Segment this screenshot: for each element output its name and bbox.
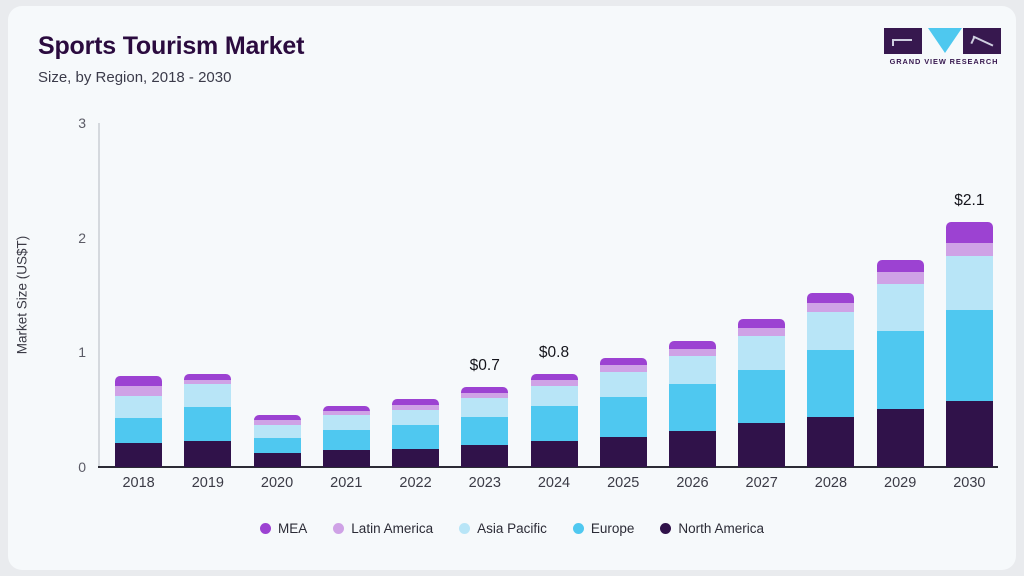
legend-color-swatch-icon bbox=[660, 523, 671, 534]
bar-segment-asia-pacific[interactable] bbox=[807, 312, 854, 350]
bar-stack[interactable] bbox=[600, 358, 647, 467]
x-axis-tick-label: 2026 bbox=[676, 475, 708, 491]
bar-stack[interactable] bbox=[946, 222, 993, 467]
logo-triangle-icon bbox=[928, 28, 962, 53]
bar-segment-mea[interactable] bbox=[738, 319, 785, 328]
bar-stack[interactable] bbox=[531, 374, 578, 467]
bar-segment-latin-america[interactable] bbox=[738, 328, 785, 336]
bar-segment-north-america[interactable] bbox=[669, 431, 716, 467]
legend-item[interactable]: MEA bbox=[260, 521, 307, 536]
bar-segment-north-america[interactable] bbox=[600, 437, 647, 467]
bar-segment-mea[interactable] bbox=[115, 376, 162, 385]
bar-segment-latin-america[interactable] bbox=[946, 243, 993, 256]
legend-color-swatch-icon bbox=[459, 523, 470, 534]
bar-segment-asia-pacific[interactable] bbox=[392, 410, 439, 425]
chart-plot-area: 0123 Market Size (US$T) $0.7$0.8$2.1 201… bbox=[98, 123, 998, 467]
bar-segment-europe[interactable] bbox=[254, 438, 301, 453]
x-axis-tick-label: 2027 bbox=[746, 475, 778, 491]
x-axis-tick-label: 2029 bbox=[884, 475, 916, 491]
bar-segment-latin-america[interactable] bbox=[115, 386, 162, 396]
bar-segment-mea[interactable] bbox=[877, 260, 924, 273]
bar-segment-mea[interactable] bbox=[807, 293, 854, 303]
logo-text: GRAND VIEW RESEARCH bbox=[884, 57, 1004, 66]
y-axis-line bbox=[98, 123, 100, 467]
bar-segment-asia-pacific[interactable] bbox=[531, 386, 578, 407]
x-axis-tick-label: 2022 bbox=[399, 475, 431, 491]
bar-segment-asia-pacific[interactable] bbox=[946, 256, 993, 310]
legend-item[interactable]: Latin America bbox=[333, 521, 433, 536]
bar-segment-north-america[interactable] bbox=[323, 450, 370, 467]
x-axis-tick-label: 2021 bbox=[330, 475, 362, 491]
legend-item[interactable]: Europe bbox=[573, 521, 635, 536]
bar-segment-europe[interactable] bbox=[461, 417, 508, 446]
legend-color-swatch-icon bbox=[573, 523, 584, 534]
y-axis-tick-label: 2 bbox=[42, 230, 86, 246]
page-subtitle: Size, by Region, 2018 - 2030 bbox=[38, 69, 231, 86]
bar-segment-north-america[interactable] bbox=[531, 441, 578, 467]
x-axis-tick-label: 2025 bbox=[607, 475, 639, 491]
chart-legend: MEALatin AmericaAsia PacificEuropeNorth … bbox=[8, 521, 1016, 536]
bar-segment-latin-america[interactable] bbox=[669, 349, 716, 356]
bar-segment-europe[interactable] bbox=[531, 406, 578, 440]
bar-segment-europe[interactable] bbox=[669, 384, 716, 431]
y-axis-tick-label: 3 bbox=[42, 115, 86, 131]
chart-card: Sports Tourism Market Size, by Region, 2… bbox=[8, 6, 1016, 570]
logo-marks bbox=[884, 28, 1004, 54]
bar-segment-latin-america[interactable] bbox=[600, 365, 647, 372]
y-axis-tick-label: 0 bbox=[42, 459, 86, 475]
legend-item[interactable]: Asia Pacific bbox=[459, 521, 547, 536]
x-axis-tick-label: 2023 bbox=[469, 475, 501, 491]
bar-segment-asia-pacific[interactable] bbox=[184, 384, 231, 407]
bar-stack[interactable] bbox=[323, 406, 370, 467]
bar-stack[interactable] bbox=[738, 319, 785, 467]
bar-segment-europe[interactable] bbox=[115, 418, 162, 443]
bar-segment-north-america[interactable] bbox=[392, 449, 439, 467]
bar-segment-north-america[interactable] bbox=[877, 409, 924, 467]
legend-label: Asia Pacific bbox=[477, 521, 547, 536]
bar-segment-asia-pacific[interactable] bbox=[461, 398, 508, 416]
legend-item[interactable]: North America bbox=[660, 521, 764, 536]
bar-segment-north-america[interactable] bbox=[461, 445, 508, 467]
bar-value-label: $0.7 bbox=[470, 357, 500, 375]
bar-segment-asia-pacific[interactable] bbox=[254, 425, 301, 439]
bar-stack[interactable] bbox=[115, 376, 162, 467]
bar-stack[interactable] bbox=[254, 415, 301, 467]
legend-color-swatch-icon bbox=[260, 523, 271, 534]
y-axis-title: Market Size (US$T) bbox=[15, 236, 30, 355]
legend-label: Latin America bbox=[351, 521, 433, 536]
legend-label: MEA bbox=[278, 521, 307, 536]
bar-segment-latin-america[interactable] bbox=[877, 272, 924, 283]
page-title: Sports Tourism Market bbox=[38, 32, 304, 61]
y-axis-ticks: 0123 bbox=[42, 123, 86, 467]
bar-segment-asia-pacific[interactable] bbox=[669, 356, 716, 385]
bar-segment-europe[interactable] bbox=[877, 331, 924, 409]
x-axis-tick-label: 2019 bbox=[192, 475, 224, 491]
bar-segment-asia-pacific[interactable] bbox=[738, 336, 785, 369]
bar-segment-europe[interactable] bbox=[184, 407, 231, 440]
bar-segment-asia-pacific[interactable] bbox=[600, 372, 647, 397]
x-axis-tick-label: 2018 bbox=[122, 475, 154, 491]
bar-segment-north-america[interactable] bbox=[115, 443, 162, 467]
bar-segment-north-america[interactable] bbox=[946, 401, 993, 468]
y-axis-tick-label: 1 bbox=[42, 344, 86, 360]
x-axis-tick-label: 2024 bbox=[538, 475, 570, 491]
x-axis-tick-label: 2020 bbox=[261, 475, 293, 491]
legend-label: Europe bbox=[591, 521, 635, 536]
bar-stack[interactable] bbox=[877, 260, 924, 468]
bar-segment-europe[interactable] bbox=[807, 350, 854, 417]
bar-stack[interactable] bbox=[461, 387, 508, 467]
bar-stack[interactable] bbox=[392, 399, 439, 467]
bar-segment-europe[interactable] bbox=[600, 397, 647, 437]
bar-stack[interactable] bbox=[669, 341, 716, 467]
bar-segment-mea[interactable] bbox=[946, 222, 993, 244]
bar-segment-europe[interactable] bbox=[738, 370, 785, 424]
bar-stack[interactable] bbox=[184, 374, 231, 467]
bar-segment-asia-pacific[interactable] bbox=[115, 396, 162, 418]
x-axis-tick-label: 2028 bbox=[815, 475, 847, 491]
bar-segment-asia-pacific[interactable] bbox=[877, 284, 924, 331]
bar-stack[interactable] bbox=[807, 293, 854, 467]
bar-segment-mea[interactable] bbox=[669, 341, 716, 349]
bar-value-label: $0.8 bbox=[539, 344, 569, 362]
bar-segment-north-america[interactable] bbox=[807, 417, 854, 467]
x-axis-tick-label: 2030 bbox=[953, 475, 985, 491]
logo-square-left-icon bbox=[884, 28, 922, 54]
bar-segment-asia-pacific[interactable] bbox=[323, 415, 370, 430]
bar-segment-north-america[interactable] bbox=[184, 441, 231, 467]
bar-segment-europe[interactable] bbox=[946, 310, 993, 401]
legend-color-swatch-icon bbox=[333, 523, 344, 534]
bar-segment-north-america[interactable] bbox=[738, 423, 785, 467]
grand-view-research-logo: GRAND VIEW RESEARCH bbox=[884, 28, 1004, 68]
bar-segment-mea[interactable] bbox=[600, 358, 647, 365]
legend-label: North America bbox=[678, 521, 764, 536]
bar-segment-north-america[interactable] bbox=[254, 453, 301, 467]
bar-segment-europe[interactable] bbox=[392, 425, 439, 449]
bar-value-label: $2.1 bbox=[954, 192, 984, 210]
bar-segment-latin-america[interactable] bbox=[807, 303, 854, 312]
logo-square-right-icon bbox=[963, 28, 1001, 54]
bar-segment-europe[interactable] bbox=[323, 430, 370, 449]
